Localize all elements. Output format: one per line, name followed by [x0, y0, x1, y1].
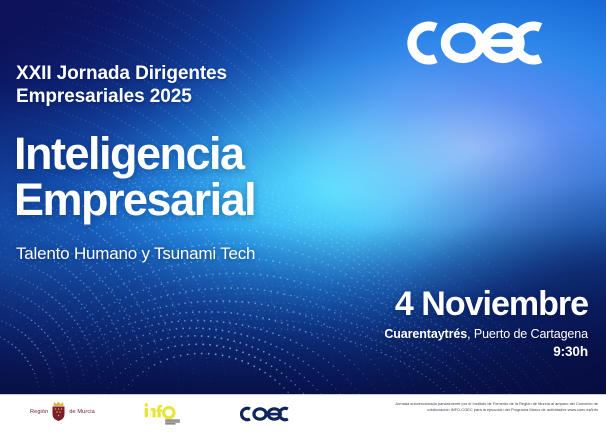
subsidy-disclaimer: Jornada subvencionada parcialmente por e… — [376, 401, 598, 413]
coec-logo — [392, 12, 588, 74]
event-kicker: XXII Jornada Dirigentes Empresariales 20… — [16, 62, 306, 108]
event-time: 9:30h — [288, 344, 588, 359]
event-poster: XXII Jornada Dirigentes Empresariales 20… — [0, 0, 606, 432]
coec-footer-logo — [234, 404, 306, 424]
title-line-1: Inteligencia — [14, 128, 244, 179]
event-details: 4 Noviembre Cuarentaytrés, Puerto de Car… — [288, 286, 588, 359]
murcia-logo-text-left: Región — [30, 409, 48, 415]
murcia-logo-text-right: de Murcia — [69, 409, 94, 415]
event-date: 4 Noviembre — [288, 286, 588, 322]
venue-location: , Puerto de Cartagena — [467, 327, 588, 341]
event-tagline: Talento Humano y Tsunami Tech — [16, 244, 255, 264]
region-de-murcia-logo: Región de Murcia — [30, 402, 95, 422]
murcia-crest-icon — [51, 402, 66, 422]
sponsor-footer: Región de Murcia — [0, 394, 606, 432]
title-line-2: Empresarial — [14, 177, 374, 223]
page-title: Inteligencia Empresarial — [14, 131, 374, 224]
info-logo — [141, 400, 185, 426]
event-venue: Cuarentaytrés, Puerto de Cartagena — [288, 326, 588, 342]
venue-name: Cuarentaytrés — [384, 327, 467, 341]
